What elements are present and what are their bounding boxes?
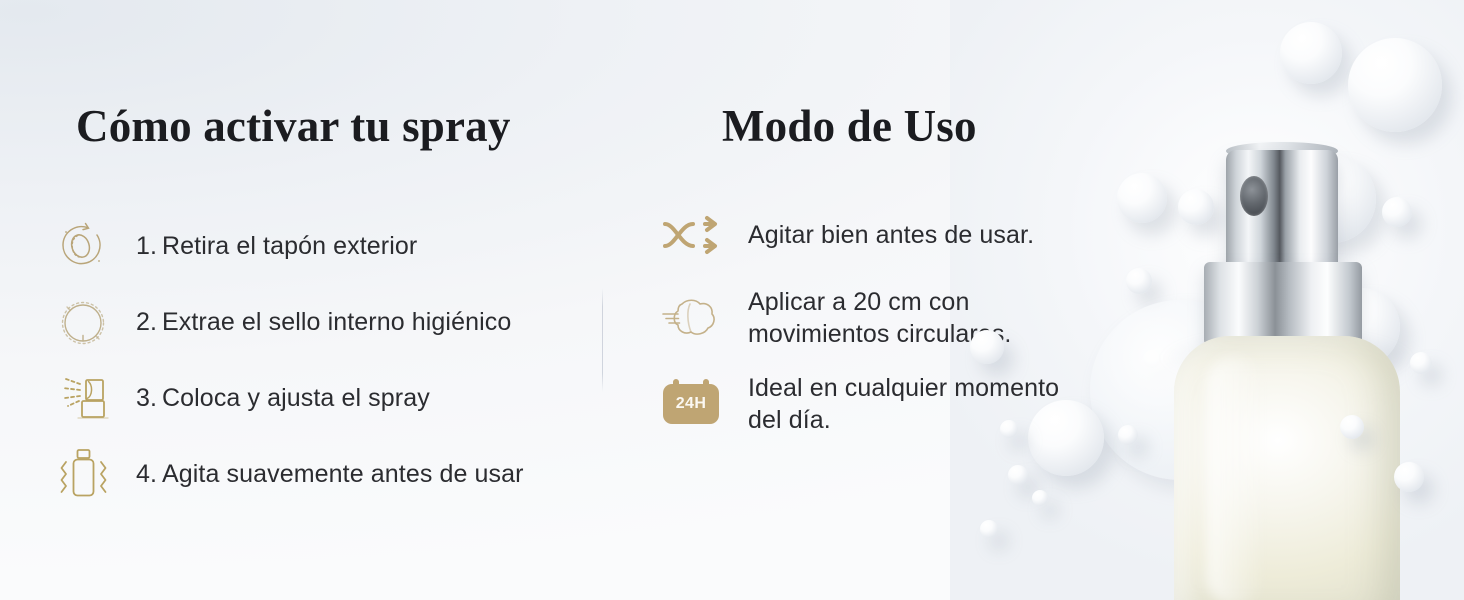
list-item-number: 3.: [136, 382, 162, 414]
list-item-text: 2. Extrae el sello interno higiénico: [136, 306, 511, 338]
product-photo: [950, 0, 1464, 600]
list-item: 4. Agita suavemente antes de usar: [52, 436, 592, 512]
sphere: [1348, 38, 1442, 132]
page-title-activar: Cómo activar tu spray: [76, 104, 596, 149]
sphere: [1410, 352, 1432, 374]
list-item-number: 1.: [136, 230, 162, 262]
sphere: [1028, 400, 1104, 476]
sphere: [1126, 268, 1152, 294]
column-divider: [602, 288, 603, 392]
bottle-collar: [1204, 262, 1362, 346]
list-item-text: 3. Coloca y ajusta el spray: [136, 382, 430, 414]
list-item-label: Extrae el sello interno higiénico: [162, 306, 511, 338]
sphere: [970, 330, 1004, 364]
column-activar: Cómo activar tu spray: [76, 104, 596, 149]
list-item: 2. Extrae el sello interno higiénico: [52, 284, 592, 360]
list-item-label: Agita suavemente antes de usar: [162, 458, 524, 490]
list-item-text: 4. Agita suavemente antes de usar: [136, 458, 524, 490]
bottle-highlight: [1206, 356, 1264, 600]
calendar-24h-badge-icon: 24H: [660, 375, 722, 433]
shake-bottle-icon: [52, 443, 114, 505]
badge-24h: 24H: [663, 384, 719, 424]
sphere: [1394, 462, 1424, 492]
pump-nozzle: [1226, 150, 1338, 268]
sphere: [1118, 425, 1138, 445]
sphere: [1340, 415, 1364, 439]
sphere: [1032, 490, 1048, 506]
sphere: [1008, 465, 1028, 485]
inner-seal-ring-icon: [52, 291, 114, 353]
sphere: [1117, 173, 1167, 223]
steps-list-activar: 1. Retira el tapón exterior 2. Extrae el…: [52, 208, 592, 512]
list-item-number: 2.: [136, 306, 162, 338]
sphere: [1000, 420, 1018, 438]
spray-cloud-icon: [660, 289, 722, 347]
twist-cap-rotate-icon: [52, 215, 114, 277]
list-item: 3. Coloca y ajusta el spray: [52, 360, 592, 436]
status-badge-label: 24H: [676, 395, 707, 413]
list-item: 1. Retira el tapón exterior: [52, 208, 592, 284]
list-item-label: Coloca y ajusta el spray: [162, 382, 430, 414]
shuffle-arrows-icon: [660, 206, 722, 264]
sphere: [1280, 22, 1342, 84]
list-item-text: 1. Retira el tapón exterior: [136, 230, 417, 262]
list-item-number: 4.: [136, 458, 162, 490]
sphere: [980, 520, 998, 538]
spray-bottle-mist-icon: [52, 367, 114, 429]
nozzle-spray-hole: [1240, 176, 1268, 216]
list-item-label: Retira el tapón exterior: [162, 230, 417, 262]
promo-banner: Cómo activar tu spray 1. Retira el tapón…: [0, 0, 1464, 600]
spray-bottle: [1164, 150, 1410, 600]
